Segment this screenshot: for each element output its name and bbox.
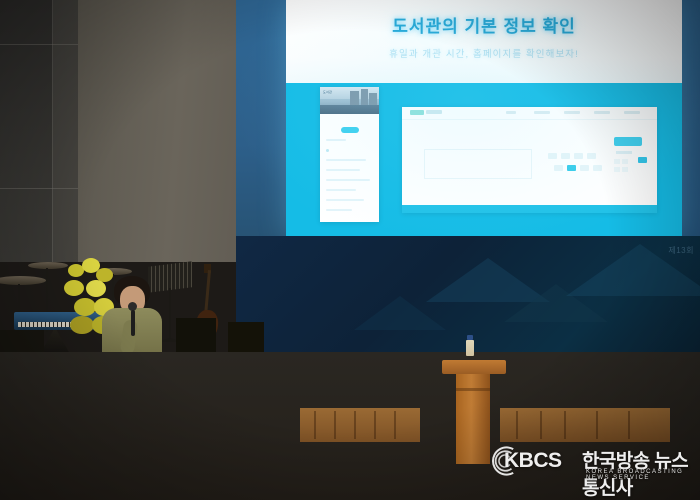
microphone-handle (131, 310, 135, 336)
watermark: KBCS 한국방송 뉴스통신사 KOREA BROADCASTING NEWS … (486, 440, 692, 486)
photo-scene: 도서관의 기본 정보 확인 휴일과 개관 시간, 홈페이지를 확인해보자! 도서… (0, 0, 700, 500)
mobile-banner-photo: 도서관 (320, 87, 379, 114)
quick-menu-item[interactable] (574, 153, 583, 159)
mobile-cta-button[interactable] (341, 127, 359, 133)
calendar-cell[interactable] (622, 167, 628, 172)
website-nav-item[interactable] (564, 111, 580, 114)
banner-ground (320, 105, 379, 114)
website-nav-item[interactable] (624, 111, 640, 114)
mobile-text-line (326, 159, 366, 161)
mobile-text-line (326, 209, 352, 211)
wall-seam (52, 0, 53, 262)
banner-building (369, 93, 377, 105)
speaker-cabinet (176, 318, 216, 352)
slide-title: 도서관의 기본 정보 확인 (286, 12, 682, 37)
calendar-header (614, 137, 642, 146)
website-calendar-widget (614, 137, 650, 179)
quick-menu-item[interactable] (580, 165, 589, 171)
calendar-subtitle (616, 151, 632, 154)
banner-caption: 도서관 (323, 90, 332, 94)
mobile-text-line (326, 169, 360, 171)
mobile-text-line (326, 179, 370, 181)
auditorium-blue-wall-band (236, 0, 288, 262)
website-logo-text (426, 110, 442, 114)
website-logo-icon (410, 110, 424, 115)
slide-website-screenshot (402, 107, 657, 213)
auditorium-center-wall (78, 0, 240, 262)
watermark-english-name: KOREA BROADCASTING NEWS SERVICE (586, 469, 692, 481)
backdrop-title: 제13회 (668, 246, 694, 255)
quick-menu-item[interactable] (548, 153, 557, 159)
website-nav-item[interactable] (506, 111, 516, 114)
bottle-cap (467, 335, 473, 340)
calendar-action-chip[interactable] (638, 157, 647, 163)
slide-mobile-screenshot: 도서관 (320, 87, 379, 222)
quick-menu-item[interactable] (554, 165, 563, 171)
wall-seam (0, 44, 80, 45)
music-stand-pole (169, 288, 171, 340)
mobile-text-line (326, 189, 356, 191)
banner-building (361, 89, 368, 105)
calendar-cell[interactable] (614, 167, 620, 172)
quick-menu-item[interactable] (587, 153, 596, 159)
auditorium-right-wall-edge (681, 0, 700, 248)
quick-menu-item[interactable] (593, 165, 602, 171)
wall-seam (0, 188, 80, 189)
website-footer-band (402, 205, 657, 213)
drum-cymbal (0, 276, 46, 285)
flower (64, 280, 84, 296)
wall-dark-panel (0, 0, 53, 262)
projection-screen: 도서관의 기본 정보 확인 휴일과 개관 시간, 홈페이지를 확인해보자! 도서… (286, 0, 682, 236)
website-navbar (402, 107, 657, 120)
website-hero-box (424, 149, 532, 179)
mobile-bullet-dot (326, 149, 329, 152)
mobile-text-line (326, 199, 364, 201)
banner-building (350, 91, 359, 105)
quick-menu-item[interactable] (561, 153, 570, 159)
website-quick-menu-grid (548, 153, 606, 179)
mobile-text-line (326, 139, 346, 141)
website-nav-item[interactable] (594, 111, 610, 114)
calendar-cell[interactable] (614, 159, 620, 164)
calendar-cell[interactable] (622, 159, 628, 164)
flower (70, 316, 94, 334)
watermark-mark: KBCS (504, 449, 562, 473)
quick-menu-item-active[interactable] (567, 165, 576, 171)
flower (74, 298, 96, 316)
slide-subtitle: 휴일과 개관 시간, 홈페이지를 확인해보자! (286, 46, 682, 60)
backdrop-polygon (354, 296, 446, 330)
backdrop-title-text: 제13회 (668, 246, 694, 256)
website-nav-item[interactable] (534, 111, 550, 114)
